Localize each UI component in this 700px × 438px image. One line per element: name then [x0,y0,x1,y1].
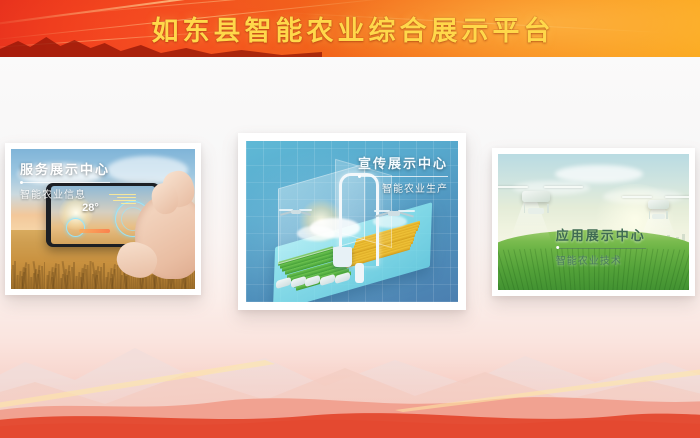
page-title: 如东县智能农业综合展示平台 [0,0,700,57]
drone-icon [282,205,310,219]
divider [20,182,110,183]
hand-holding-phone [121,169,195,289]
card-promotion-display-center[interactable]: 宣传展示中心 智能农业生产 [238,133,466,310]
drone-icon [502,178,571,213]
cloud [297,226,335,240]
card-service-display-center[interactable]: 28° 服务展示中心 智能农业信息 [5,143,201,295]
header-banner: 如东县智能农业综合展示平台 [0,0,700,57]
temperature-readout: 28° [82,202,99,214]
card-image-promotion: 宣传展示中心 智能农业生产 [246,141,458,302]
card-label-promotion: 宣传展示中心 智能农业生产 [358,153,448,195]
ar-info-chip [79,229,110,234]
platform-showcase-page: 如东县智能农业综合展示平台 28° [0,0,700,438]
card-image-service: 28° 服务展示中心 智能农业信息 [11,149,195,289]
ar-reticle-icon [66,218,85,237]
card-subtitle-service: 智能农业信息 [20,186,110,201]
divider [358,176,448,177]
card-title-application: 应用展示中心 [556,225,646,244]
card-label-service: 服务展示中心 智能农业信息 [20,159,110,201]
light-ray-background [0,352,700,412]
storage-tank [333,247,352,266]
card-title-promotion: 宣传展示中心 [358,153,448,172]
card-subtitle-application: 智能农业技术 [556,252,646,267]
divider [556,248,646,249]
card-label-application: 应用展示中心 智能农业技术 [556,225,646,267]
drone-icon [632,189,685,219]
card-subtitle-promotion: 智能农业生产 [358,180,448,195]
drone-icon [377,205,411,223]
card-application-display-center[interactable]: 应用展示中心 智能农业技术 [492,148,695,296]
card-title-service: 服务展示中心 [20,159,110,178]
card-image-application: 应用展示中心 智能农业技术 [498,154,689,290]
